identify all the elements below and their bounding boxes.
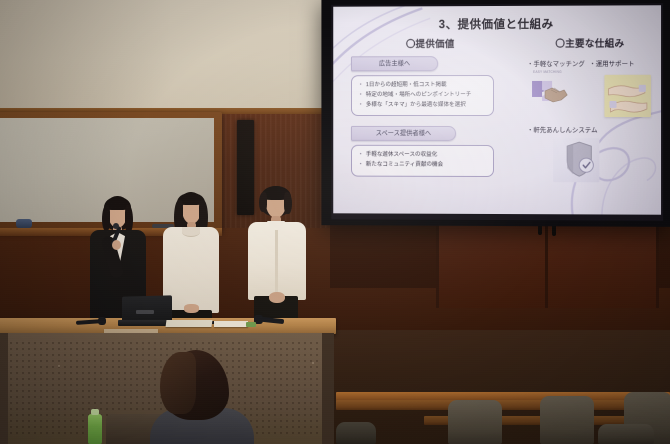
seated-attendee-hair-sweep (160, 352, 196, 414)
hair-side (102, 205, 110, 231)
list-item: 特定の地域・場所へのピンポイントリーチ (358, 91, 489, 101)
podium-left-edge (0, 333, 8, 444)
laptop-logo (136, 310, 154, 314)
laptop-screen[interactable] (122, 295, 172, 322)
list-item: 多様な「スキマ」から最適な媒体を選択 (358, 101, 489, 111)
panel-screw (58, 365, 60, 367)
shield-check-icon (553, 138, 599, 182)
bottle-cap (91, 409, 99, 415)
puzzle-handshake-icon (529, 77, 569, 107)
slide-left-column: 〇提供価値 広告主様へ 1日からの超短期・低コスト掲載 特定の地域・場所へのピン… (351, 36, 510, 177)
hair-side (284, 192, 292, 214)
mechanism-label-anshin: ・軒先あんしんシステム (527, 125, 653, 134)
list-item: 手軽な遊休スペースの収益化 (358, 151, 489, 161)
blouse-neckline (182, 227, 200, 237)
space-provider-benefits-box: 手軽な遊休スペースの収益化 新たなコミュニティ貢献の機会 (351, 145, 494, 177)
tag-space-provider: スペース提供者様へ (351, 126, 456, 141)
audience-desk-front (336, 400, 670, 410)
audience-chair (336, 422, 376, 444)
audience-chair (598, 424, 654, 444)
list-item: 新たなコミュニティ貢献の機会 (358, 161, 489, 171)
hair-side (259, 192, 267, 212)
mechanism-icon-row: EASY MATCHING (527, 67, 653, 115)
microphone-head (113, 223, 119, 229)
water-bottle[interactable] (88, 414, 102, 444)
clasped-hands (269, 292, 285, 303)
panel-screw (312, 362, 314, 364)
green-marker-card (246, 322, 256, 327)
hair-side (125, 205, 133, 233)
audience-chair (448, 400, 502, 444)
clasped-hands (184, 304, 199, 313)
projected-slide: 3、提供価値と仕組み 〇提供価値 広告主様へ 1日からの超短期・低コスト掲載 特… (333, 5, 661, 214)
handout-papers[interactable] (166, 320, 213, 327)
slide-title: 3、提供価値と仕組み (333, 15, 661, 32)
right-column-heading: 〇主要な仕組み (527, 35, 653, 49)
room-photo: 3、提供価値と仕組み 〇提供価値 広告主様へ 1日からの超短期・低コスト掲載 特… (0, 0, 670, 444)
easy-matching-caption: EASY MATCHING (533, 70, 562, 74)
left-column-heading: 〇提供価値 (351, 36, 510, 50)
audience-chair (540, 396, 594, 444)
advertiser-benefits-box: 1日からの超短期・低コスト掲載 特定の地域・場所へのピンポイントリーチ 多様な「… (351, 75, 494, 116)
slide-right-column: 〇主要な仕組み ・手軽なマッチング ・運用サポート EASY MATCHING (527, 35, 653, 182)
shirt-placket (275, 230, 278, 292)
tag-advertiser: 広告主様へ (351, 56, 438, 71)
whiteboard-eraser (16, 219, 32, 228)
presenter-right (246, 186, 308, 330)
microphone-head-on-desk (98, 317, 106, 325)
projection-screen: 3、提供価値と仕組み 〇提供価値 広告主様へ 1日からの超短期・低コスト掲載 特… (321, 0, 670, 227)
handout-papers[interactable] (214, 321, 248, 327)
list-item: 1日からの超短期・低コスト掲載 (358, 81, 489, 91)
hand (112, 240, 121, 250)
podium-right-edge (322, 333, 334, 444)
helping-hands-icon (604, 75, 650, 117)
